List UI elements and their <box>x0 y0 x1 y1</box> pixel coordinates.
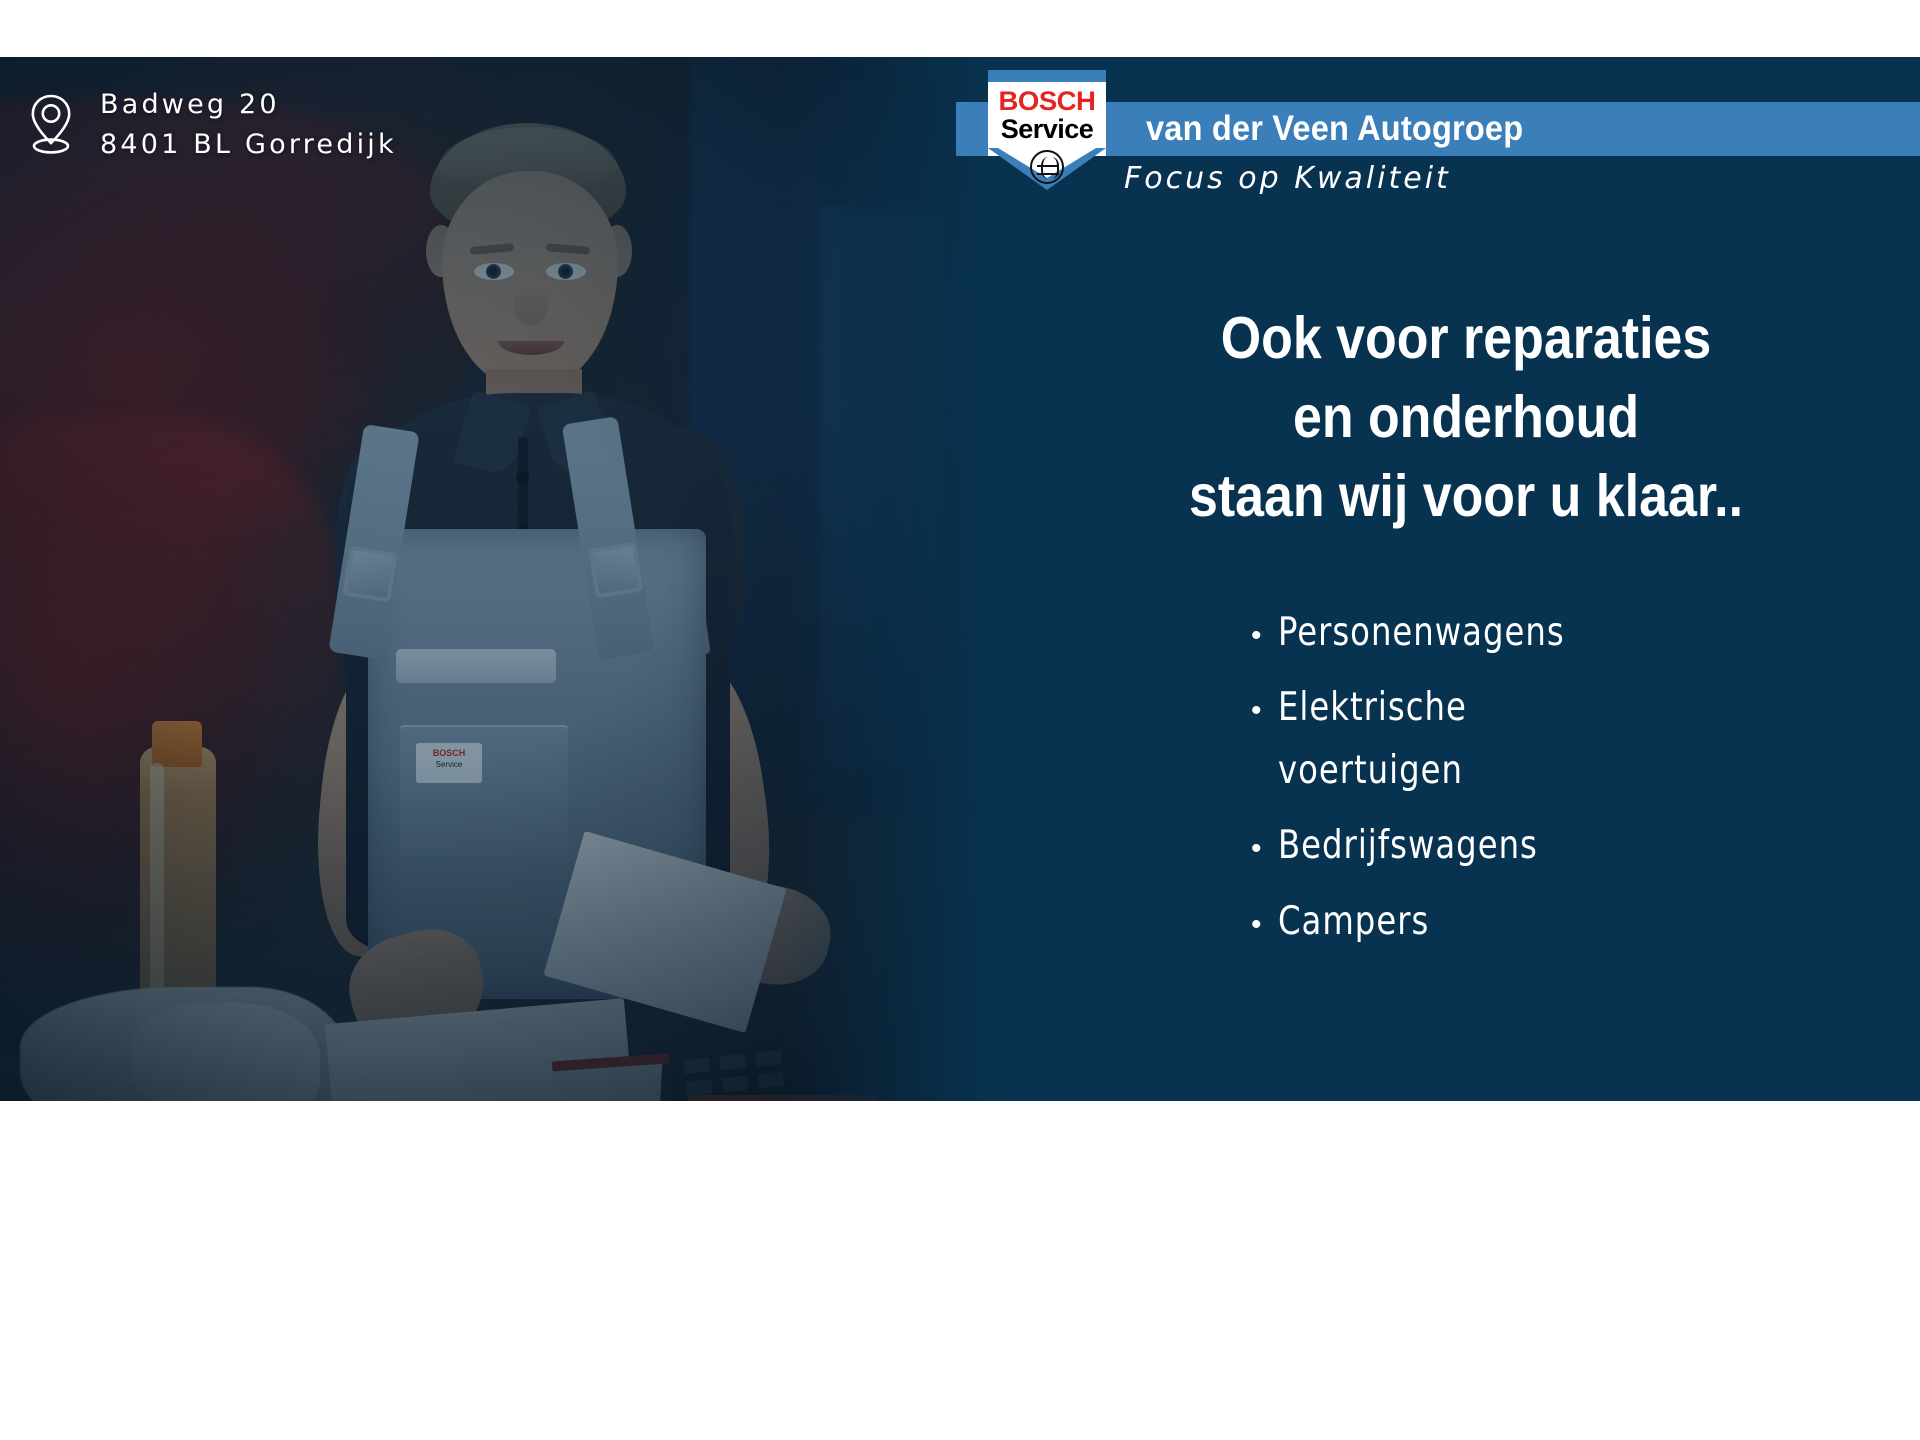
list-item: • Personenwagens <box>1012 602 1920 664</box>
address-lines: Badweg 20 8401 BL Gorredijk <box>100 85 397 165</box>
info-panel: Ook voor reparaties en onderhoud staan w… <box>1012 57 1920 1101</box>
location-pin-icon <box>28 93 74 157</box>
photo-to-panel-fade <box>782 57 1012 1101</box>
mechanic-photo: BOSCH Service <box>0 57 1012 1101</box>
service-label: Campers <box>1278 891 1429 953</box>
company-name: van der Veen Autogroep <box>1146 102 1797 156</box>
logo-bosch-word: BOSCH <box>987 86 1107 117</box>
logo-service-word: Service <box>988 114 1106 145</box>
headline-line-3: staan wij voor u klaar.. <box>1066 457 1865 536</box>
bullet-icon: • <box>1251 621 1262 651</box>
bullet-icon: • <box>1251 910 1262 940</box>
list-item: • Bedrijfswagens <box>1012 815 1920 877</box>
service-label: Elektrische voertuigen <box>1278 677 1649 802</box>
headline-line-1: Ook voor reparaties <box>1066 299 1865 378</box>
service-label: Personenwagens <box>1278 602 1565 664</box>
brand-header: van der Veen Autogroep BOSCH Service Foc… <box>1012 57 1920 207</box>
bosch-service-shield-icon: BOSCH Service <box>988 70 1106 190</box>
list-item: • Campers <box>1012 891 1920 953</box>
bullet-icon: • <box>1251 696 1262 726</box>
list-item: • Elektrische voertuigen <box>1012 677 1920 802</box>
headline-line-2: en onderhoud <box>1066 378 1865 457</box>
content-band: BOSCH Service <box>0 57 1920 1101</box>
bosch-armature-icon <box>1030 150 1064 184</box>
address-line-2: 8401 BL Gorredijk <box>100 125 397 165</box>
service-label: Bedrijfswagens <box>1278 815 1538 877</box>
services-list: • Personenwagens • Elektrische voertuige… <box>1012 602 1920 966</box>
brand-tagline: Focus op Kwaliteit <box>1124 161 1451 196</box>
address-line-1: Badweg 20 <box>100 85 397 125</box>
headline-block: Ook voor reparaties en onderhoud staan w… <box>1066 299 1865 536</box>
address-block: Badweg 20 8401 BL Gorredijk <box>28 85 397 165</box>
advertisement-banner: BOSCH Service <box>0 0 1920 1440</box>
bullet-icon: • <box>1251 834 1262 864</box>
